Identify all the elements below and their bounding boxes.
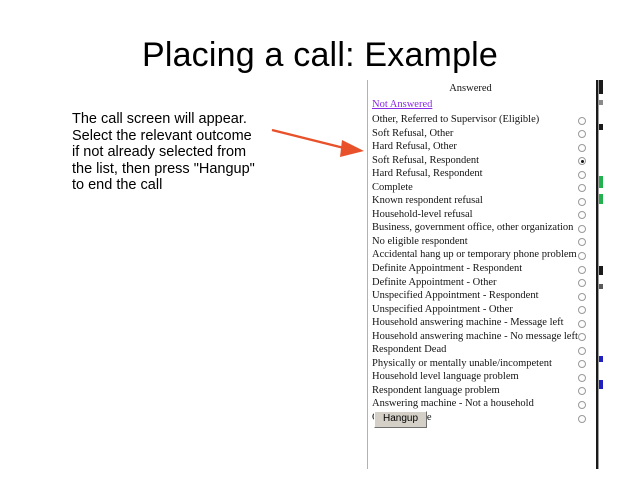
outcome-radio-button[interactable] xyxy=(578,279,586,287)
call-screen-panel: Answered Not Answered Other, Referred to… xyxy=(367,80,598,469)
outcome-label: Unspecified Appointment - Respondent xyxy=(372,289,539,303)
page-title: Placing a call: Example xyxy=(0,36,640,75)
outcome-label: Complete xyxy=(372,181,413,195)
outcome-row[interactable]: Other, Referred to Supervisor (Eligible) xyxy=(368,113,597,127)
outcome-radio-button[interactable] xyxy=(578,347,586,355)
outcome-radio-button[interactable] xyxy=(578,157,586,165)
outcome-label: Household answering machine - No message… xyxy=(372,330,578,344)
edge-strip-mark xyxy=(599,176,603,188)
outcome-row[interactable]: Household answering machine - No message… xyxy=(368,330,597,344)
outcome-label: Definite Appointment - Respondent xyxy=(372,262,522,276)
callout-arrow-icon xyxy=(268,120,372,165)
outcome-radio-list: Other, Referred to Supervisor (Eligible)… xyxy=(368,113,597,425)
outcome-row[interactable]: Hard Refusal, Respondent xyxy=(368,167,597,181)
outcome-label: Respondent Dead xyxy=(372,343,446,357)
outcome-row[interactable]: Business, government office, other organ… xyxy=(368,221,597,235)
outcome-row[interactable]: No eligible respondent xyxy=(368,235,597,249)
outcome-row[interactable]: Respondent Dead xyxy=(368,343,597,357)
outcome-radio-button[interactable] xyxy=(578,211,586,219)
body-text-line: The call screen will appear. xyxy=(72,111,272,128)
outcome-radio-button[interactable] xyxy=(578,225,586,233)
edge-strip-mark xyxy=(599,80,603,94)
outcome-row[interactable]: Respondent language problem xyxy=(368,384,597,398)
outcome-radio-button[interactable] xyxy=(578,238,586,246)
outcome-radio-button[interactable] xyxy=(578,306,586,314)
outcome-radio-button[interactable] xyxy=(578,333,586,341)
answered-header: Answered xyxy=(368,83,573,94)
outcome-label: Hard Refusal, Other xyxy=(372,140,457,154)
outcome-radio-button[interactable] xyxy=(578,387,586,395)
outcome-row[interactable]: Known respondent refusal xyxy=(368,194,597,208)
edge-strip-mark xyxy=(599,356,603,362)
outcome-label: Other, Referred to Supervisor (Eligible) xyxy=(372,113,539,127)
outcome-radio-button[interactable] xyxy=(578,266,586,274)
outcome-label: No eligible respondent xyxy=(372,235,468,249)
outcome-row[interactable]: Soft Refusal, Other xyxy=(368,127,597,141)
outcome-radio-button[interactable] xyxy=(578,171,586,179)
outcome-radio-button[interactable] xyxy=(578,184,586,192)
outcome-radio-button[interactable] xyxy=(578,415,586,423)
outcome-radio-button[interactable] xyxy=(578,401,586,409)
outcome-label: Answering machine - Not a household xyxy=(372,397,534,411)
outcome-radio-button[interactable] xyxy=(578,252,586,260)
hangup-button[interactable]: Hangup xyxy=(374,411,427,428)
outcome-row[interactable]: Household answering machine - Message le… xyxy=(368,316,597,330)
window-edge-strip[interactable] xyxy=(598,80,604,469)
edge-strip-mark xyxy=(599,124,603,130)
outcome-row[interactable]: Unspecified Appointment - Other xyxy=(368,303,597,317)
outcome-radio-button[interactable] xyxy=(578,374,586,382)
outcome-row[interactable]: Hard Refusal, Other xyxy=(368,140,597,154)
slide-body-text: The call screen will appear. Select the … xyxy=(72,111,272,194)
outcome-label: Respondent language problem xyxy=(372,384,500,398)
outcome-row[interactable]: Unspecified Appointment - Respondent xyxy=(368,289,597,303)
not-answered-link[interactable]: Not Answered xyxy=(372,99,432,110)
edge-strip-mark xyxy=(599,194,603,204)
outcome-label: Household-level refusal xyxy=(372,208,473,222)
outcome-label: Physically or mentally unable/incompeten… xyxy=(372,357,552,371)
outcome-label: Business, government office, other organ… xyxy=(372,221,573,235)
edge-strip-mark xyxy=(599,380,603,389)
outcome-row[interactable]: Definite Appointment - Other xyxy=(368,276,597,290)
outcome-row[interactable]: Household-level refusal xyxy=(368,208,597,222)
outcome-label: Soft Refusal, Respondent xyxy=(372,154,479,168)
outcome-label: Household answering machine - Message le… xyxy=(372,316,564,330)
outcome-label: Unspecified Appointment - Other xyxy=(372,303,513,317)
outcome-row[interactable]: Accidental hang up or temporary phone pr… xyxy=(368,248,597,262)
outcome-radio-button[interactable] xyxy=(578,144,586,152)
body-text-line: to end the call xyxy=(72,177,272,194)
outcome-label: Known respondent refusal xyxy=(372,194,483,208)
outcome-label: Hard Refusal, Respondent xyxy=(372,167,483,181)
outcome-row[interactable]: Physically or mentally unable/incompeten… xyxy=(368,357,597,371)
outcome-row[interactable]: Answering machine - Not a household xyxy=(368,397,597,411)
outcome-radio-button[interactable] xyxy=(578,130,586,138)
edge-strip-mark xyxy=(599,266,603,275)
outcome-radio-button[interactable] xyxy=(578,320,586,328)
outcome-radio-button[interactable] xyxy=(578,117,586,125)
outcome-label: Accidental hang up or temporary phone pr… xyxy=(372,248,577,262)
body-text-line: if not already selected from xyxy=(72,144,272,161)
outcome-radio-button[interactable] xyxy=(578,293,586,301)
body-text-line: the list, then press "Hangup" xyxy=(72,161,272,178)
edge-strip-mark xyxy=(599,284,603,289)
outcome-row[interactable]: Household level language problem xyxy=(368,370,597,384)
outcome-radio-button[interactable] xyxy=(578,360,586,368)
outcome-label: Definite Appointment - Other xyxy=(372,276,497,290)
outcome-row[interactable]: Soft Refusal, Respondent xyxy=(368,154,597,168)
outcome-label: Household level language problem xyxy=(372,370,519,384)
outcome-radio-button[interactable] xyxy=(578,198,586,206)
outcome-row[interactable]: Definite Appointment - Respondent xyxy=(368,262,597,276)
outcome-label: Soft Refusal, Other xyxy=(372,127,453,141)
outcome-row[interactable]: Complete xyxy=(368,181,597,195)
edge-strip-mark xyxy=(599,100,603,105)
slide-canvas: Placing a call: Example The call screen … xyxy=(0,0,640,480)
body-text-line: Select the relevant outcome xyxy=(72,128,272,145)
